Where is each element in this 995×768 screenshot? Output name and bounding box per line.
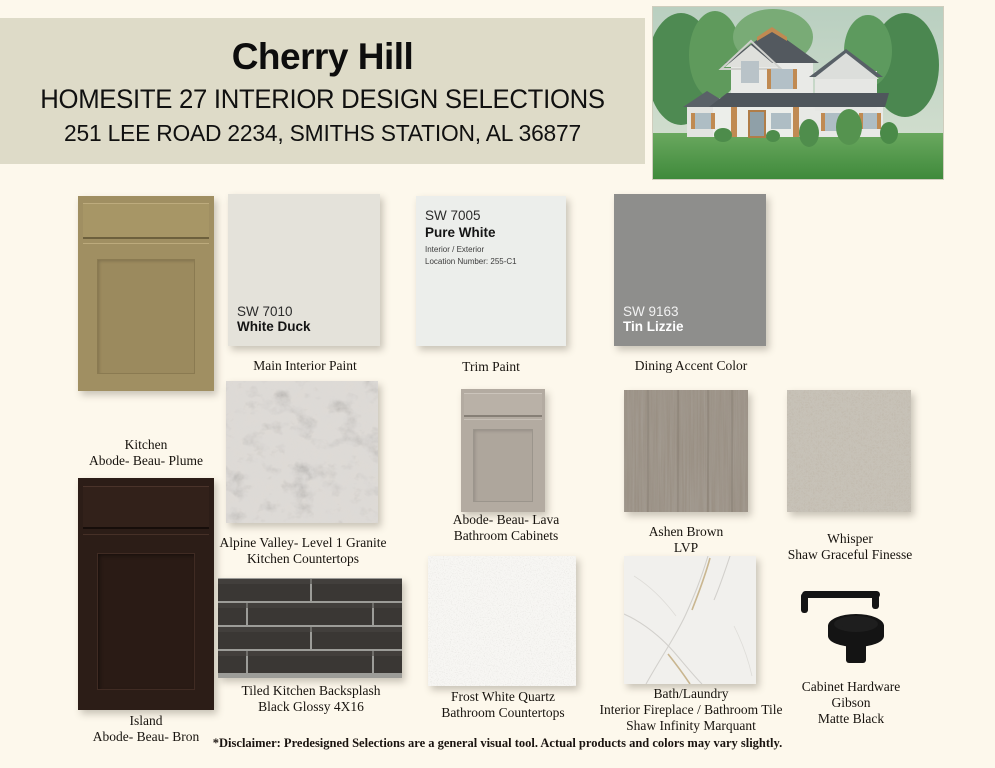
caption-trim-paint: Trim Paint [400,359,582,375]
paint-detail-usage: Interior / Exterior [425,244,517,256]
swatch-trim-paint: SW 7005 Pure White Interior / Exterior L… [416,196,566,346]
header-subtitle: HOMESITE 27 INTERIOR DESIGN SELECTIONS [10,86,636,114]
caption-bathroom-cabinet: Abode- Beau- Lava Bathroom Cabinets [418,512,594,544]
door-panel-frame [83,243,208,384]
wood-plank-texture [624,390,748,512]
carpet-texture [787,390,911,512]
paint-code: SW 9163 [623,304,684,319]
paint-chip-text-pure-white: SW 7005 Pure White Interior / Exterior L… [425,208,517,267]
door-drawer [83,486,208,528]
paint-chip-text-white-duck: SW 7010 White Duck [237,304,311,334]
disclaimer-text: *Disclaimer: Predesigned Selections are … [0,736,995,751]
paint-code: SW 7010 [237,304,311,319]
marble-tile-texture [624,556,756,684]
door-drawer [83,203,208,239]
swatch-island-cabinet [78,478,214,710]
caption-bath-laundry-tile: Bath/Laundry Interior Fireplace / Bathro… [596,686,786,734]
paint-name: Tin Lizzie [623,319,684,334]
swatch-kitchen-countertop [226,381,378,523]
page-title: Cherry Hill [0,38,645,77]
paint-name: Pure White [425,225,517,240]
caption-main-interior-paint: Main Interior Paint [212,358,398,374]
swatch-main-interior-paint: SW 7010 White Duck [228,194,380,346]
cabinet-door-bathroom [461,389,545,512]
cabinet-door-kitchen [78,196,214,391]
caption-carpet: Whisper Shaw Graceful Finesse [772,531,928,563]
quartz-texture [428,556,576,686]
door-drawer [464,393,541,417]
door-panel-frame [464,419,541,508]
paint-detail-location: Location Number: 255-C1 [425,256,517,268]
paint-chip-text-tin-lizzie: SW 9163 Tin Lizzie [623,304,684,334]
door-panel-frame [83,534,208,702]
swatch-bathroom-cabinet [461,389,545,512]
caption-dining-accent-color: Dining Accent Color [598,358,784,374]
paint-name: White Duck [237,319,311,334]
design-selections-board: Cherry Hill HOMESITE 27 INTERIOR DESIGN … [0,0,995,768]
caption-bathroom-countertop: Frost White Quartz Bathroom Countertops [416,689,590,721]
swatch-bathroom-countertop [428,556,576,686]
house-rendering-image [652,6,944,180]
swatch-kitchen-cabinet [78,196,214,391]
caption-kitchen-cabinet: Kitchen Abode- Beau- Plume [58,437,234,469]
swatch-dining-accent-color: SW 9163 Tin Lizzie [614,194,766,346]
header-address: 251 LEE ROAD 2234, SMITHS STATION, AL 36… [10,121,636,146]
swatch-lvp-flooring [624,390,748,512]
subway-tile-texture [218,578,402,678]
paint-code: SW 7005 [425,208,517,223]
cabinet-hardware-icon [786,583,914,665]
swatch-kitchen-backsplash [218,578,402,678]
caption-lvp-flooring: Ashen Brown LVP [606,524,766,556]
caption-cabinet-hardware: Cabinet Hardware Gibson Matte Black [772,679,930,727]
caption-kitchen-countertop: Alpine Valley- Level 1 Granite Kitchen C… [208,535,398,567]
door-panel-inset [97,259,195,374]
house-rendering-svg [653,7,943,179]
bar-pull-icon [801,591,880,613]
granite-texture [226,381,378,523]
cabinet-door-island [78,478,214,710]
swatch-cabinet-hardware [786,583,914,665]
header-band: Cherry Hill HOMESITE 27 INTERIOR DESIGN … [0,18,645,164]
swatch-carpet [787,390,911,512]
door-panel-inset [97,553,195,690]
door-panel-inset [473,429,533,501]
swatch-bath-laundry-tile [624,556,756,684]
caption-kitchen-backsplash: Tiled Kitchen Backsplash Black Glossy 4X… [215,683,407,715]
